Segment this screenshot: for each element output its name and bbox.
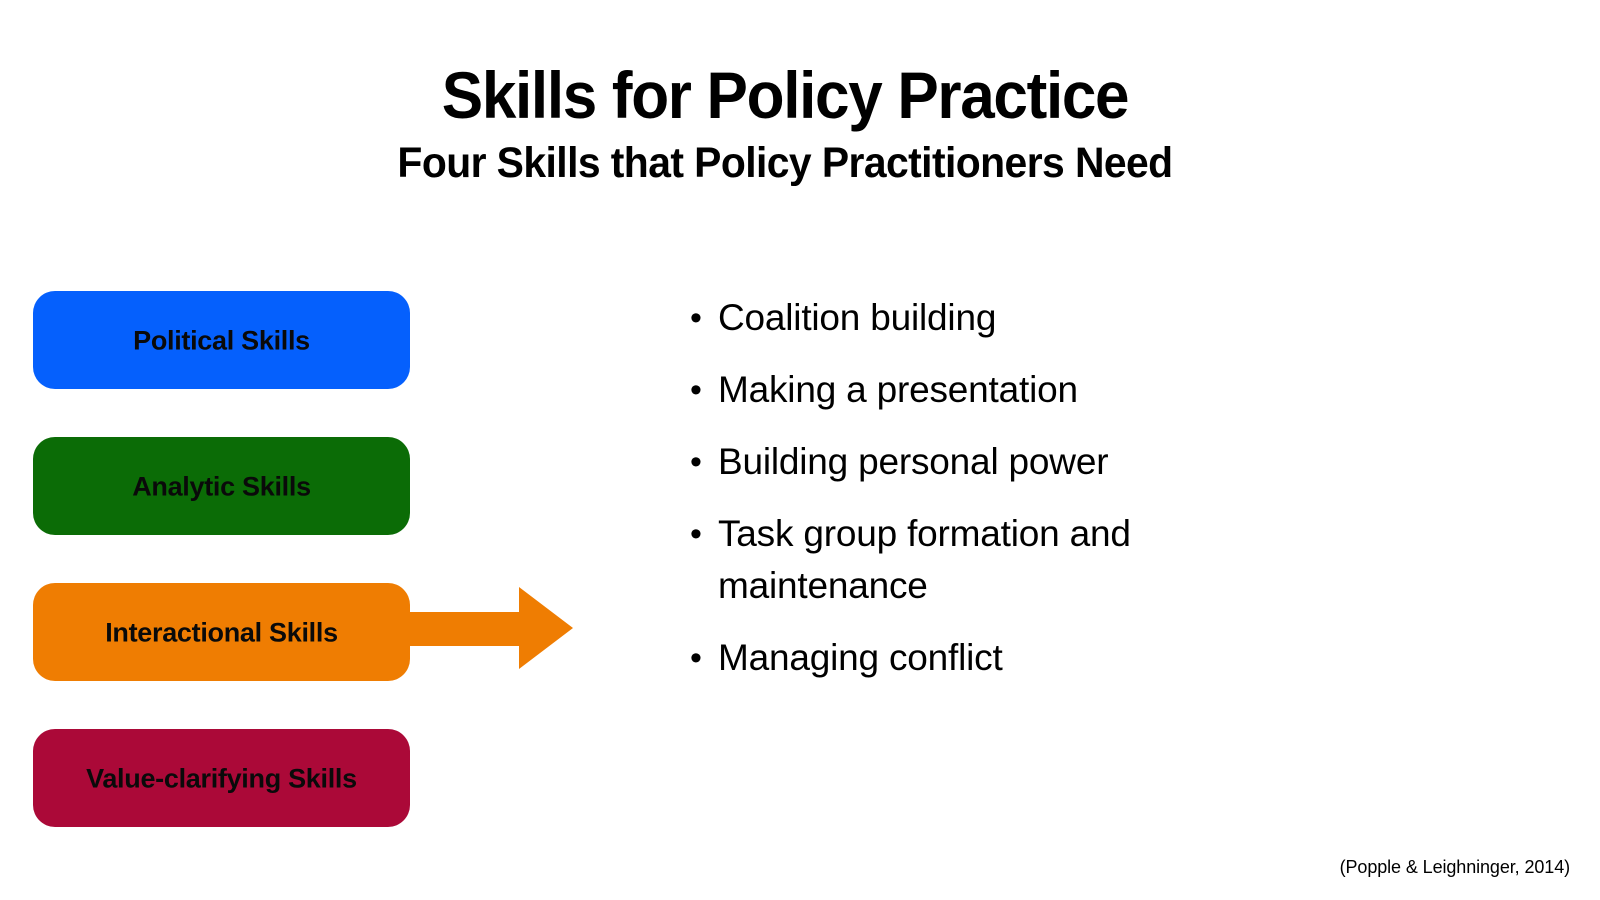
bullet-marker-icon: • bbox=[690, 632, 718, 684]
list-item-label: Making a presentation bbox=[718, 364, 1330, 416]
list-item: • Managing conflict bbox=[690, 632, 1330, 684]
slide-canvas: Skills for Policy Practice Four Skills t… bbox=[0, 0, 1600, 900]
bullet-marker-icon: • bbox=[690, 364, 718, 416]
skill-box-group: Political Skills Analytic Skills Interac… bbox=[33, 291, 410, 827]
list-item: • Building personal power bbox=[690, 436, 1330, 488]
skill-box-analytic[interactable]: Analytic Skills bbox=[33, 437, 410, 535]
list-item: • Coalition building bbox=[690, 292, 1330, 344]
bullet-marker-icon: • bbox=[690, 508, 718, 560]
list-item: • Making a presentation bbox=[690, 364, 1330, 416]
page-subtitle: Four Skills that Policy Practitioners Ne… bbox=[39, 142, 1531, 185]
skill-box-label-political: Political Skills bbox=[33, 326, 410, 357]
list-item-label: Task group formation and maintenance bbox=[718, 508, 1330, 612]
right-arrow-shape bbox=[402, 587, 573, 669]
skill-box-interactional[interactable]: Interactional Skills bbox=[33, 583, 410, 681]
bullet-marker-icon: • bbox=[690, 292, 718, 344]
right-arrow-icon bbox=[402, 583, 582, 673]
source-citation: (Popple & Leighninger, 2014) bbox=[1340, 857, 1570, 878]
list-item-label: Managing conflict bbox=[718, 632, 1330, 684]
skill-box-value-clarifying[interactable]: Value-clarifying Skills bbox=[33, 729, 410, 827]
skill-box-label-analytic: Analytic Skills bbox=[33, 472, 410, 503]
skill-box-label-value-clarifying: Value-clarifying Skills bbox=[33, 764, 410, 795]
list-item: • Task group formation and maintenance bbox=[690, 508, 1330, 612]
details-bullet-list: • Coalition building • Making a presenta… bbox=[690, 292, 1330, 684]
title-block: Skills for Policy Practice Four Skills t… bbox=[0, 62, 1570, 185]
skill-box-political[interactable]: Political Skills bbox=[33, 291, 410, 389]
list-item-label: Coalition building bbox=[718, 292, 1330, 344]
skill-box-label-interactional: Interactional Skills bbox=[33, 618, 410, 649]
page-title: Skills for Policy Practice bbox=[47, 62, 1523, 128]
list-item-label: Building personal power bbox=[718, 436, 1330, 488]
bullet-marker-icon: • bbox=[690, 436, 718, 488]
